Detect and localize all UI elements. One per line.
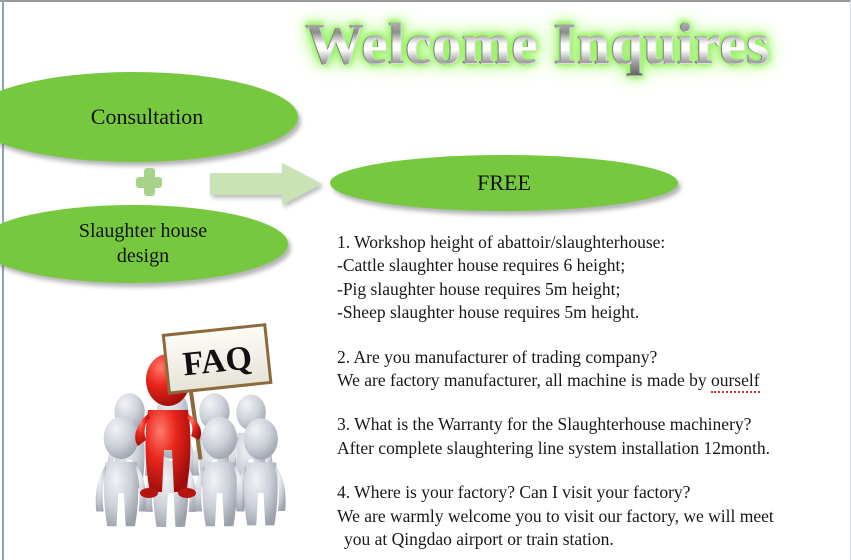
consultation-ellipse: Consultation <box>0 72 298 162</box>
faq-block-q1: 1. Workshop height of abattoir/slaughter… <box>337 231 845 325</box>
free-ellipse: FREE <box>330 155 678 211</box>
faq-line: you at Qingdao airport or train station. <box>337 528 845 551</box>
faq-line: We are factory manufacturer, all machine… <box>337 369 845 392</box>
faq-block-q2: 2. Are you manufacturer of trading compa… <box>337 346 845 393</box>
faq-block-q4: 4. Where is your factory? Can I visit yo… <box>337 481 845 551</box>
faq-block-q3: 3. What is the Warranty for the Slaughte… <box>337 413 845 460</box>
page-title-text: Welcome Inquires <box>268 8 808 80</box>
faq-line: We are warmly welcome you to visit our f… <box>337 505 845 528</box>
faq-line: 2. Are you manufacturer of trading compa… <box>337 346 845 369</box>
top-border-rule <box>0 0 851 2</box>
faq-line: -Pig slaughter house requires 5m height; <box>337 278 845 301</box>
faq-text-panel: 1. Workshop height of abattoir/slaughter… <box>337 231 845 551</box>
faq-line: 4. Where is your factory? Can I visit yo… <box>337 481 845 504</box>
design-label: Slaughter house design <box>59 219 207 269</box>
faq-sign-text: FAQ <box>181 339 254 383</box>
design-label-line1: Slaughter house <box>79 220 207 242</box>
misspelled-word: ourself <box>711 370 760 393</box>
plus-icon <box>136 168 162 196</box>
faq-line: 1. Workshop height of abattoir/slaughter… <box>337 231 845 254</box>
promotional-banner: Welcome Inquires Welcome Inquires Consul… <box>0 0 851 560</box>
faq-line-text: We are factory manufacturer, all machine… <box>337 370 711 390</box>
slaughter-house-design-ellipse: Slaughter house design <box>0 205 288 283</box>
left-border-rule <box>2 0 4 560</box>
faq-line: 3. What is the Warranty for the Slaughte… <box>337 413 845 436</box>
page-title: Welcome Inquires Welcome Inquires <box>268 8 808 84</box>
right-arrow-icon <box>210 163 322 205</box>
free-label: FREE <box>477 170 531 196</box>
consultation-label: Consultation <box>65 104 203 130</box>
faq-line: -Sheep slaughter house requires 5m heigh… <box>337 301 845 324</box>
faq-crowd-illustration: FAQ <box>88 322 328 557</box>
faq-line: -Cattle slaughter house requires 6 heigh… <box>337 254 845 277</box>
faq-line: After complete slaughtering line system … <box>337 437 845 460</box>
design-label-line2: design <box>117 245 169 267</box>
